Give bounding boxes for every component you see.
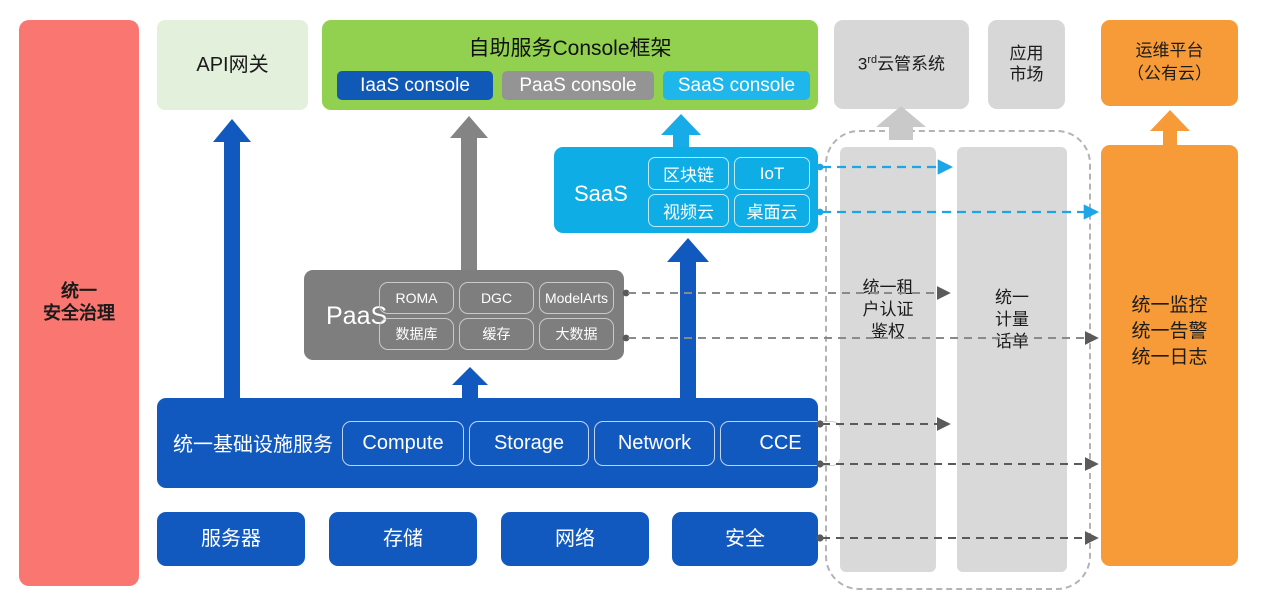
hardware-label: 网络 [555,527,595,551]
unified-security-governance-block: 统一 安全治理 [19,20,139,586]
unified-tenant-auth-label: 统一租 户认证 鉴权 [840,277,936,342]
api-gateway-label: API网关 [196,53,268,77]
paas-tile-dgc[interactable]: DGC [459,282,534,314]
hardware-server-block: 服务器 [157,512,305,566]
app-market-block: 应用 市场 [988,20,1065,109]
billing-line1: 统一 [957,287,1067,309]
arrow-saas-to-console [661,114,701,147]
security-label-line1: 统一 [43,281,115,303]
infrastructure-label: 统一基础设施服务 [173,428,333,457]
auth-line2: 户认证 [840,299,936,321]
third-party-prefix: 3 [858,54,867,73]
saas-tile-label: 桌面云 [747,198,798,223]
hardware-storage-block: 存储 [329,512,477,566]
monitoring-label: 统一监控 统一告警 统一日志 [1101,293,1238,372]
auth-line3: 鉴权 [840,321,936,343]
hardware-network-block: 网络 [501,512,649,566]
infra-tile-network[interactable]: Network [594,421,715,466]
paas-tile-label: ModelArts [545,290,608,306]
architecture-diagram: 统一 安全治理 API网关 自助服务Console框架 IaaS console… [0,0,1265,605]
auth-line1: 统一租 [840,277,936,299]
hardware-security-block: 安全 [672,512,818,566]
arrow-infra-to-saas [667,238,709,398]
arrow-infra-to-paas [452,367,488,398]
infra-tile-label: Compute [362,432,443,455]
ops-platform-line1: 运维平台 [1127,40,1212,63]
hardware-label: 服务器 [201,527,261,551]
saas-tile-video-cloud[interactable]: 视频云 [648,194,729,227]
saas-tile-label: 区块链 [663,161,714,186]
monitoring-line1: 统一监控 [1101,293,1238,319]
unified-infrastructure-service-block: 统一基础设施服务 Compute Storage Network CCE [157,398,818,488]
paas-tile-label: ROMA [396,290,438,306]
paas-tile-label: 大数据 [556,324,598,344]
hardware-label: 存储 [383,527,423,551]
paas-tile-label: DGC [481,290,512,306]
unified-tenant-auth-column: 统一租 户认证 鉴权 [840,147,936,572]
api-gateway-block: API网关 [157,20,308,110]
third-party-label: 3rd云管系统 [858,54,945,75]
monitoring-line2: 统一告警 [1101,319,1238,345]
paas-console-label: PaaS console [519,75,636,97]
iaas-console-label: IaaS console [360,75,470,97]
paas-tile-cache[interactable]: 缓存 [459,318,534,350]
unified-monitoring-block: 统一监控 统一告警 统一日志 [1101,145,1238,566]
console-framework-title: 自助服务Console框架 [322,32,818,62]
third-party-cloud-management-block: 3rd云管系统 [834,20,969,109]
paas-tile-roma[interactable]: ROMA [379,282,454,314]
billing-line2: 计量 [957,309,1067,331]
paas-tile-database[interactable]: 数据库 [379,318,454,350]
arrow-paas-to-console [450,116,488,270]
paas-console-chip[interactable]: PaaS console [502,71,654,100]
self-service-console-framework: 自助服务Console框架 IaaS console PaaS console … [322,20,818,110]
infra-tile-storage[interactable]: Storage [469,421,589,466]
infra-tile-label: Storage [494,432,564,455]
saas-console-label: SaaS console [678,75,795,97]
arrow-infra-to-api-gateway [213,119,251,398]
infra-tile-cce[interactable]: CCE [720,421,841,466]
third-party-suffix: 云管系统 [877,54,945,73]
paas-block: PaaS ROMA DGC ModelArts 数据库 缓存 大数据 [304,270,624,360]
app-market-line2: 市场 [1010,65,1044,86]
saas-tile-desktop-cloud[interactable]: 桌面云 [734,194,810,227]
hardware-label: 安全 [725,527,765,551]
ops-platform-line2: （公有云） [1127,63,1212,86]
saas-block: SaaS 区块链 IoT 视频云 桌面云 [554,147,818,233]
third-party-superscript: rd [867,54,877,66]
paas-tile-label: 数据库 [396,324,438,344]
paas-label: PaaS [326,302,387,331]
paas-tile-label: 缓存 [483,324,511,344]
saas-tile-label: 视频云 [663,198,714,223]
saas-tile-label: IoT [760,164,785,184]
monitoring-line3: 统一日志 [1101,345,1238,371]
arrow-monitoring-to-ops-platform [1150,110,1190,145]
saas-console-chip[interactable]: SaaS console [663,71,810,100]
ops-platform-block: 运维平台 （公有云） [1101,20,1238,106]
infra-tile-label: Network [618,432,691,455]
saas-label: SaaS [574,181,628,207]
iaas-console-chip[interactable]: IaaS console [337,71,493,100]
billing-line3: 话单 [957,331,1067,353]
saas-tile-iot[interactable]: IoT [734,157,810,190]
app-market-line1: 应用 [1010,44,1044,65]
infra-tile-label: CCE [759,432,801,455]
paas-tile-bigdata[interactable]: 大数据 [539,318,614,350]
unified-billing-label: 统一 计量 话单 [957,287,1067,352]
unified-billing-column: 统一 计量 话单 [957,147,1067,572]
paas-tile-modelarts[interactable]: ModelArts [539,282,614,314]
dashed-paas-to-auth [623,290,820,297]
saas-tile-blockchain[interactable]: 区块链 [648,157,729,190]
infra-tile-compute[interactable]: Compute [342,421,464,466]
security-label-line2: 安全治理 [43,303,115,325]
